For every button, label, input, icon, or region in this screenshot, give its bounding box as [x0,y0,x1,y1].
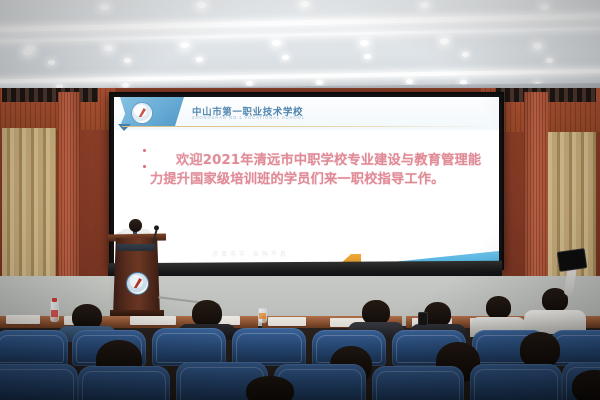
ceiling-downlight-icon [300,1,309,7]
slide-header: 中山市第一职业技术学校 ZHONGSHAN NO.1 VOCATIONAL SC… [114,97,499,130]
ceiling-downlight-icon [440,38,449,44]
bullet-dot-icon [143,165,146,168]
ceiling-downlight-icon [406,79,413,84]
window-curtain [2,128,56,286]
ceiling-downlight-icon [272,40,281,46]
mobile-phone [418,312,428,326]
audience-seat [152,328,226,366]
bottle-cap [52,298,57,302]
slide-footer-text: 求真务实 自强不息 [212,249,289,258]
ceiling-downlight-icon [540,4,549,10]
ceiling-downlight-icon [364,54,371,59]
attendee [486,296,511,319]
attendee [520,332,560,368]
school-name-en: ZHONGSHAN NO.1 VOCATIONAL SCHOOL [192,115,305,120]
audience-seat [0,364,78,400]
ceiling-downlight-icon [462,52,469,57]
ceiling-downlight-icon [104,45,113,51]
lecture-hall-photo: 中山市第一职业技术学校 ZHONGSHAN NO.1 VOCATIONAL SC… [0,0,600,400]
ceiling-downlight-icon [282,55,289,60]
presenter-head [129,219,142,232]
ceiling-downlight-icon [316,80,323,85]
ceiling-downlight-icon [124,58,131,63]
slide-body-text: 欢迎2021年清远市中职学校专业建设与教育管理能力提升国家级培训班的学员们来一职… [150,152,483,189]
header-banner-tip [118,124,131,131]
ceiling-downlight-icon [100,4,109,10]
audience-seat [78,366,170,400]
projection-screen: 中山市第一职业技术学校 ZHONGSHAN NO.1 VOCATIONAL SC… [109,92,504,270]
tablet-camera [557,248,588,272]
audience-seat [232,328,306,366]
wood-panel-column [58,92,80,288]
ceiling-downlight-icon [196,57,203,62]
wood-panel-column [524,92,548,288]
attendee [246,376,294,400]
ceiling-with-downlights [0,0,600,96]
air-vent-grille [2,88,98,102]
ceiling-downlight-icon [23,49,32,55]
ceiling-downlight-icon [180,42,189,48]
bottle-label [259,313,266,319]
audience-seat [0,330,68,366]
bottle-label [51,310,58,317]
attendee [192,300,222,327]
ceiling-downlight-icon [533,43,542,49]
ceiling-downlight-icon [420,2,429,8]
audience-seat [372,366,464,400]
water-bottle [258,308,267,323]
document-on-desk [130,316,176,325]
presentation-slide: 中山市第一职业技术学校 ZHONGSHAN NO.1 VOCATIONAL SC… [114,97,499,265]
ceiling-downlight-icon [197,2,206,8]
ceiling-downlight-icon [48,60,55,65]
ceiling-downlight-icon [246,81,253,86]
water-bottle [50,300,59,322]
bullet-dot-icon [143,149,146,152]
podium-control-panel [117,244,155,251]
school-crest-icon [126,272,149,295]
document-on-desk [268,317,306,326]
ceiling-downlight-icon [546,58,553,63]
ceiling-downlight-icon [360,40,369,46]
school-crest-icon [131,102,153,124]
audience-seat [470,364,562,400]
document-on-desk [6,315,40,324]
ceiling-led-strip [0,68,600,84]
